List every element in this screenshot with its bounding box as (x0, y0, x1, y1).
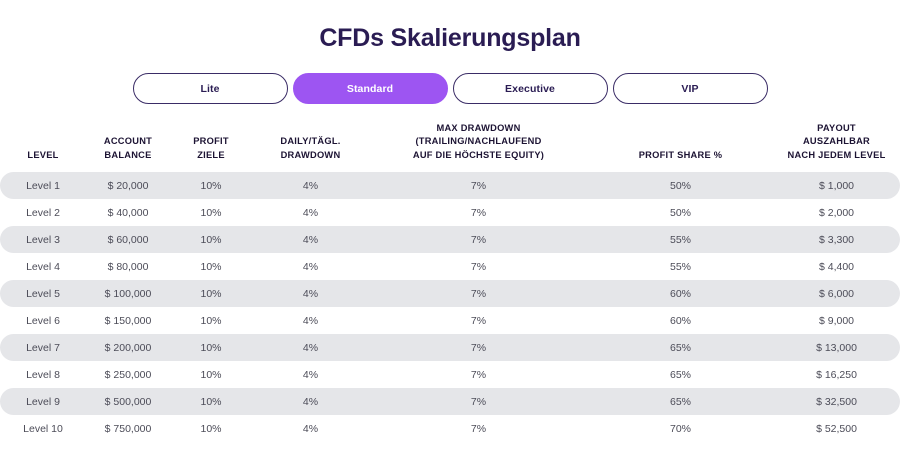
cell-max-drawdown: 7% (369, 280, 588, 307)
cell-daily-drawdown: 4% (252, 172, 369, 199)
cell-level: Level 1 (0, 172, 86, 199)
cell-level: Level 5 (0, 280, 86, 307)
column-header-daily-drawdown: DAILY/TÄGL. DRAWDOWN (252, 122, 369, 172)
cell-max-drawdown: 7% (369, 172, 588, 199)
table-row: Level 1$ 20,00010%4%7%50%$ 1,000 (0, 172, 900, 199)
cell-level: Level 10 (0, 415, 86, 442)
table-row: Level 6$ 150,00010%4%7%60%$ 9,000 (0, 307, 900, 334)
cell-profit-share: 65% (588, 334, 773, 361)
cell-profit-share: 55% (588, 226, 773, 253)
cell-level: Level 6 (0, 307, 86, 334)
cell-profit-target: 10% (170, 253, 252, 280)
table-body: Level 1$ 20,00010%4%7%50%$ 1,000Level 2$… (0, 172, 900, 442)
cell-level: Level 8 (0, 361, 86, 388)
cell-balance: $ 750,000 (86, 415, 170, 442)
cell-payout: $ 13,000 (773, 334, 900, 361)
cell-daily-drawdown: 4% (252, 415, 369, 442)
cell-max-drawdown: 7% (369, 307, 588, 334)
cell-max-drawdown: 7% (369, 253, 588, 280)
cell-max-drawdown: 7% (369, 388, 588, 415)
cell-profit-share: 60% (588, 307, 773, 334)
cell-daily-drawdown: 4% (252, 334, 369, 361)
table-header: LEVELACCOUNT BALANCEPROFIT ZIELEDAILY/TÄ… (0, 122, 900, 172)
cell-profit-share: 55% (588, 253, 773, 280)
table-row: Level 2$ 40,00010%4%7%50%$ 2,000 (0, 199, 900, 226)
cell-max-drawdown: 7% (369, 334, 588, 361)
cell-balance: $ 150,000 (86, 307, 170, 334)
cell-level: Level 9 (0, 388, 86, 415)
table-row: Level 9$ 500,00010%4%7%65%$ 32,500 (0, 388, 900, 415)
cell-profit-target: 10% (170, 334, 252, 361)
column-header-profit-target: PROFIT ZIELE (170, 122, 252, 172)
cell-max-drawdown: 7% (369, 226, 588, 253)
cell-daily-drawdown: 4% (252, 253, 369, 280)
cell-daily-drawdown: 4% (252, 361, 369, 388)
column-header-level: LEVEL (0, 122, 86, 172)
cell-profit-target: 10% (170, 199, 252, 226)
cell-level: Level 7 (0, 334, 86, 361)
cell-balance: $ 200,000 (86, 334, 170, 361)
cell-payout: $ 2,000 (773, 199, 900, 226)
cell-payout: $ 32,500 (773, 388, 900, 415)
cell-balance: $ 20,000 (86, 172, 170, 199)
table-row: Level 5$ 100,00010%4%7%60%$ 6,000 (0, 280, 900, 307)
cell-daily-drawdown: 4% (252, 226, 369, 253)
table-row: Level 7$ 200,00010%4%7%65%$ 13,000 (0, 334, 900, 361)
cell-payout: $ 9,000 (773, 307, 900, 334)
cell-payout: $ 3,300 (773, 226, 900, 253)
cell-profit-target: 10% (170, 415, 252, 442)
tab-standard[interactable]: Standard (293, 73, 448, 104)
cell-level: Level 3 (0, 226, 86, 253)
cell-max-drawdown: 7% (369, 199, 588, 226)
cell-profit-share: 50% (588, 199, 773, 226)
page-title: CFDs Skalierungsplan (0, 0, 900, 51)
column-header-profit-share: PROFIT SHARE % (588, 122, 773, 172)
tab-vip[interactable]: VIP (613, 73, 768, 104)
column-header-payout: PAYOUT AUSZAHLBAR NACH JEDEM LEVEL (773, 122, 900, 172)
cell-level: Level 4 (0, 253, 86, 280)
scaling-plan-table: LEVELACCOUNT BALANCEPROFIT ZIELEDAILY/TÄ… (0, 122, 900, 442)
tab-executive[interactable]: Executive (453, 73, 608, 104)
cell-daily-drawdown: 4% (252, 199, 369, 226)
column-header-max-drawdown: MAX DRAWDOWN (TRAILING/NACHLAUFEND AUF D… (369, 122, 588, 172)
cell-profit-share: 65% (588, 388, 773, 415)
table-row: Level 4$ 80,00010%4%7%55%$ 4,400 (0, 253, 900, 280)
cell-payout: $ 52,500 (773, 415, 900, 442)
cell-balance: $ 500,000 (86, 388, 170, 415)
table-row: Level 10$ 750,00010%4%7%70%$ 52,500 (0, 415, 900, 442)
cell-payout: $ 16,250 (773, 361, 900, 388)
cell-profit-target: 10% (170, 361, 252, 388)
cell-balance: $ 250,000 (86, 361, 170, 388)
cell-profit-share: 60% (588, 280, 773, 307)
table-row: Level 3$ 60,00010%4%7%55%$ 3,300 (0, 226, 900, 253)
cell-payout: $ 1,000 (773, 172, 900, 199)
cell-profit-target: 10% (170, 172, 252, 199)
tab-lite[interactable]: Lite (133, 73, 288, 104)
cell-max-drawdown: 7% (369, 415, 588, 442)
cell-daily-drawdown: 4% (252, 280, 369, 307)
cell-daily-drawdown: 4% (252, 307, 369, 334)
column-header-account-balance: ACCOUNT BALANCE (86, 122, 170, 172)
cell-daily-drawdown: 4% (252, 388, 369, 415)
cell-profit-target: 10% (170, 388, 252, 415)
table-row: Level 8$ 250,00010%4%7%65%$ 16,250 (0, 361, 900, 388)
cell-payout: $ 4,400 (773, 253, 900, 280)
cell-balance: $ 40,000 (86, 199, 170, 226)
table-header-row: LEVELACCOUNT BALANCEPROFIT ZIELEDAILY/TÄ… (0, 122, 900, 172)
cell-profit-share: 50% (588, 172, 773, 199)
plan-tab-bar: LiteStandardExecutiveVIP (0, 73, 900, 104)
cell-balance: $ 100,000 (86, 280, 170, 307)
cell-balance: $ 60,000 (86, 226, 170, 253)
cell-profit-target: 10% (170, 280, 252, 307)
cell-profit-target: 10% (170, 226, 252, 253)
cell-profit-share: 65% (588, 361, 773, 388)
cell-payout: $ 6,000 (773, 280, 900, 307)
cell-profit-share: 70% (588, 415, 773, 442)
cell-max-drawdown: 7% (369, 361, 588, 388)
cell-level: Level 2 (0, 199, 86, 226)
cell-balance: $ 80,000 (86, 253, 170, 280)
cell-profit-target: 10% (170, 307, 252, 334)
